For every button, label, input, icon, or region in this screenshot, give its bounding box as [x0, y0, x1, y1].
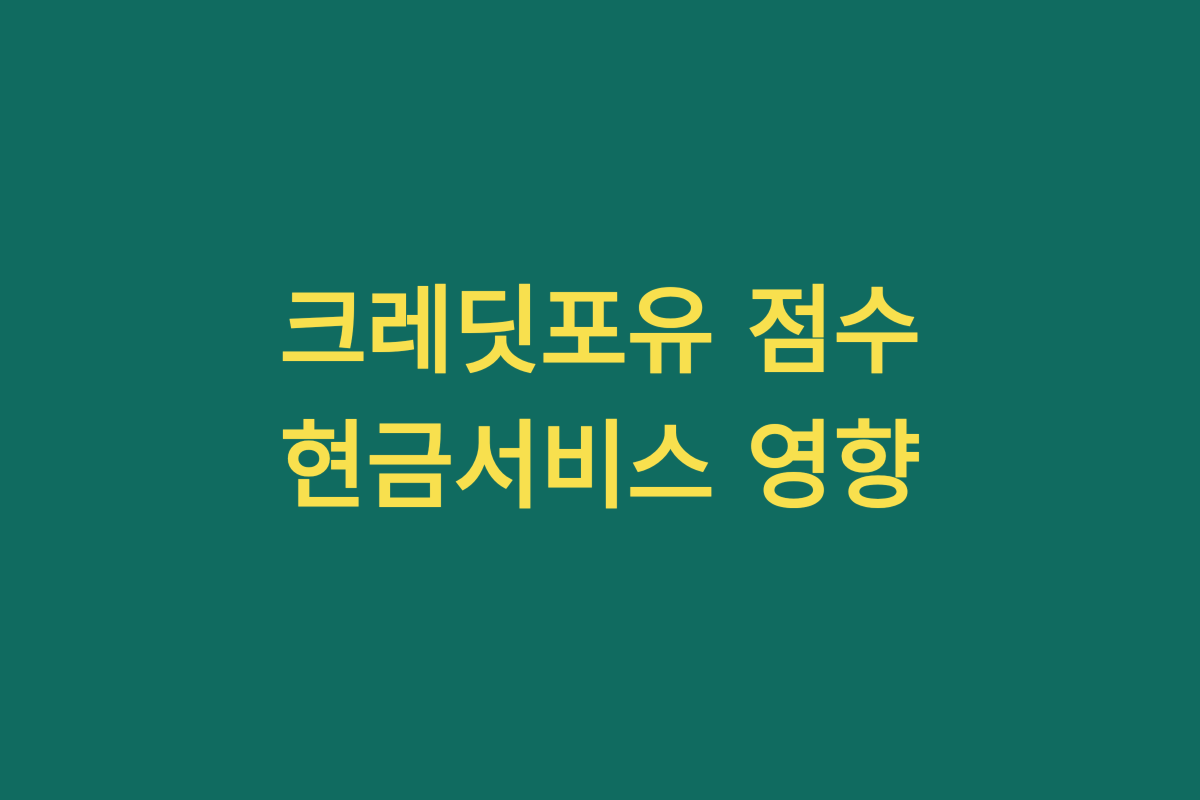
banner-headline: 크레딧포유 점수 현금서비스 영향: [95, 265, 1105, 535]
text-banner: 크레딧포유 점수 현금서비스 영향: [0, 0, 1200, 800]
